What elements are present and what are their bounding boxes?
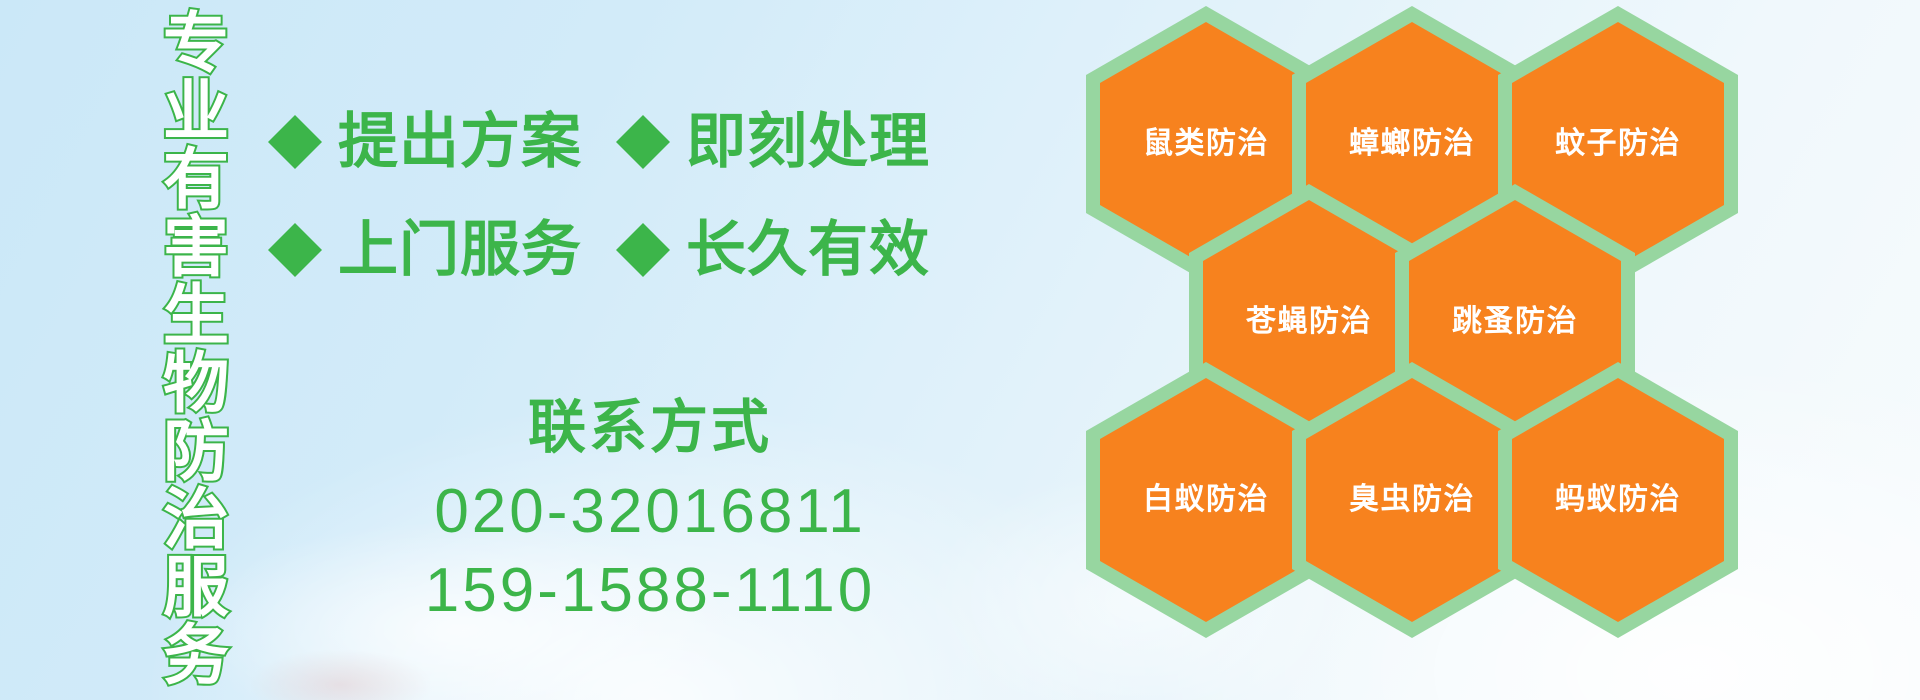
feature-item: 长久有效 (616, 220, 930, 280)
feature-label: 即刻处理 (686, 112, 930, 172)
feature-item: 上门服务 (268, 220, 582, 280)
contact-block: 联系方式 020-32016811 159-1588-1110 (330, 395, 970, 630)
background-glow-bottom (250, 650, 430, 700)
hexagon-inner: 白蚁防治 (1100, 378, 1312, 622)
contact-phone-mobile[interactable]: 159-1588-1110 (330, 551, 970, 630)
service-label: 蟑螂防治 (1349, 129, 1475, 159)
feature-label: 提出方案 (338, 112, 582, 172)
diamond-bullet-icon (268, 196, 322, 250)
feature-row: 提出方案 即刻处理 (268, 88, 908, 196)
service-hexagon-grid: 鼠类防治 蟑螂防治 蚊子防治 苍蝇防治 跳蚤防治 白蚁防治 (1050, 0, 1850, 700)
hexagon-inner: 蚂蚁防治 (1512, 378, 1724, 622)
pest-control-service-banner: 专业有害生物防治服务 提出方案 即刻处理 上门服务 长久有效 联系方式 (0, 0, 1920, 700)
feature-list: 提出方案 即刻处理 上门服务 长久有效 (268, 88, 908, 304)
feature-row: 上门服务 长久有效 (268, 196, 908, 304)
service-label: 蚂蚁防治 (1555, 485, 1681, 515)
service-label: 白蚁防治 (1143, 485, 1269, 515)
diamond-bullet-icon (616, 88, 670, 142)
vertical-headline: 专业有害生物防治服务 (132, 16, 224, 680)
diamond-bullet-icon (616, 196, 670, 250)
feature-item: 提出方案 (268, 112, 582, 172)
service-label: 跳蚤防治 (1452, 307, 1578, 337)
service-label: 臭虫防治 (1349, 485, 1475, 515)
feature-item: 即刻处理 (616, 112, 930, 172)
contact-phone-landline[interactable]: 020-32016811 (330, 472, 970, 551)
diamond-bullet-icon (268, 88, 322, 142)
service-label: 苍蝇防治 (1246, 307, 1372, 337)
feature-label: 上门服务 (338, 220, 582, 280)
service-label: 蚊子防治 (1555, 129, 1681, 159)
service-label: 鼠类防治 (1143, 129, 1269, 159)
contact-title: 联系方式 (330, 395, 970, 462)
hexagon-inner: 臭虫防治 (1306, 378, 1518, 622)
feature-label: 长久有效 (686, 220, 930, 280)
